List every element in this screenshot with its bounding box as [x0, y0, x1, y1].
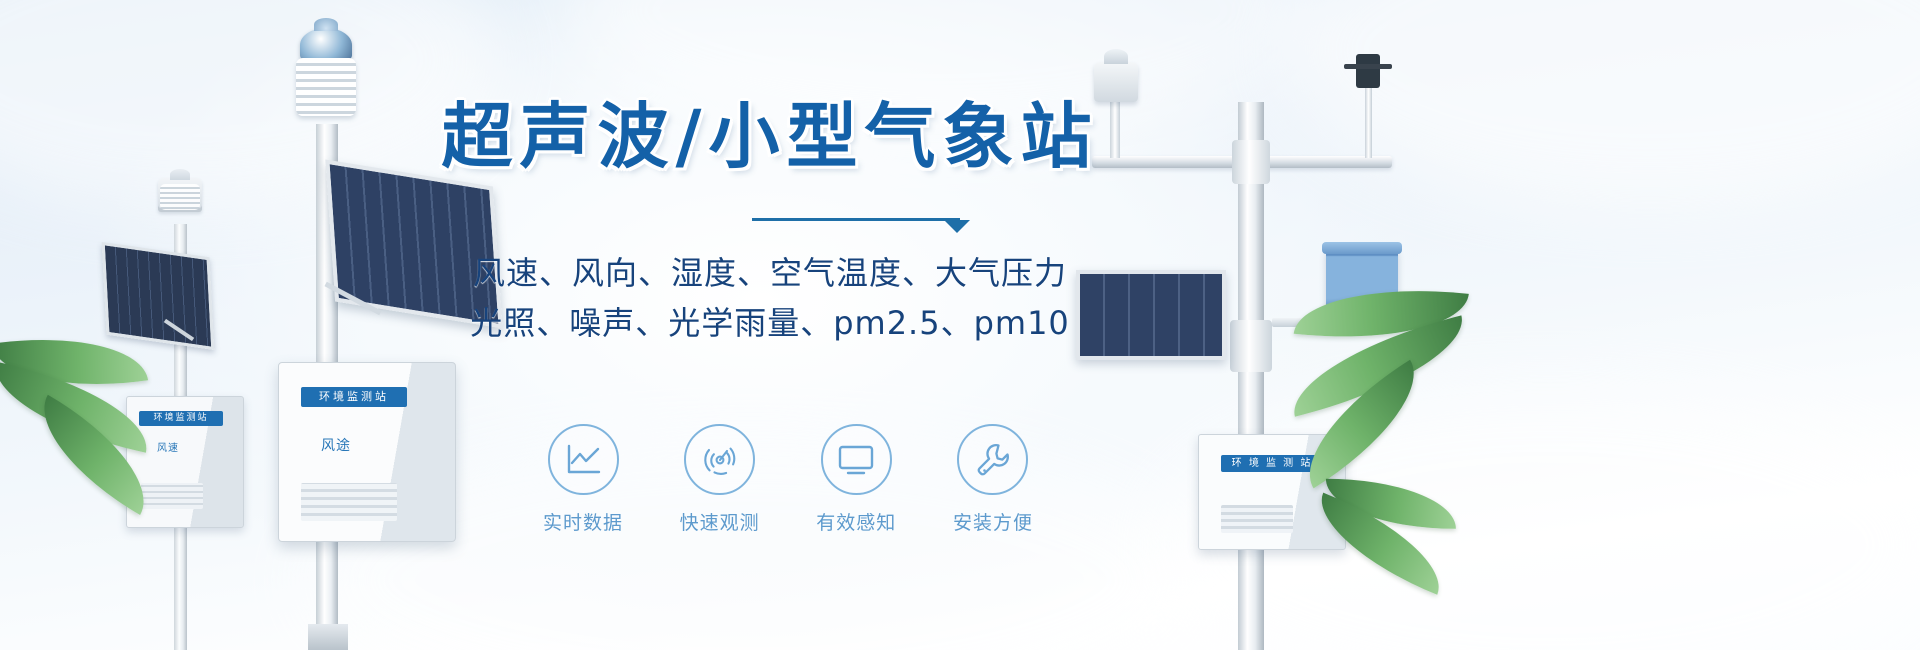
radiation-shield [296, 58, 356, 116]
enclosure-box: 环境监测站 风途 [278, 362, 456, 542]
sensor-stem [1365, 88, 1372, 158]
divider-line [752, 218, 960, 221]
feature-item-effective-sensing[interactable]: 有效感知 [801, 424, 911, 535]
line-chart-icon [548, 424, 619, 495]
radiation-shield [160, 184, 200, 210]
feature-item-easy-installation[interactable]: 安装方便 [938, 424, 1048, 535]
mast-pole [1238, 102, 1264, 650]
mast-base [308, 624, 348, 650]
subtitle-line-2: 光照、噪声、光学雨量、pm2.5、pm10 [440, 298, 1100, 348]
sensor-stem [1110, 100, 1120, 158]
enclosure-box: 环境监测站 风速 [126, 396, 244, 528]
enclosure-label: 环境监测站 [301, 387, 407, 407]
wrench-icon [957, 424, 1028, 495]
feature-label: 实时数据 [528, 508, 638, 535]
ultrasonic-sensor-icon [1094, 62, 1138, 102]
subtitle-block: 风速、风向、湿度、空气温度、大气压力 光照、噪声、光学雨量、pm2.5、pm10 [440, 248, 1100, 348]
feature-list: 实时数据 快速观测 [528, 424, 1048, 535]
title-divider [440, 218, 1100, 238]
vent-grille [141, 483, 203, 509]
wind-vane-icon [1356, 54, 1380, 88]
vent-grille [1221, 505, 1293, 533]
radar-signal-icon [684, 424, 755, 495]
feature-item-realtime-data[interactable]: 实时数据 [528, 424, 638, 535]
feature-label: 安装方便 [938, 508, 1048, 535]
mast-collar [1230, 320, 1272, 372]
enclosure-label: 环 境 监 测 站 [1221, 455, 1323, 472]
triangle-down-icon [944, 220, 970, 233]
brand-logo: 风速 [157, 439, 179, 454]
page-title: 超声波/小型气象站 [440, 96, 1100, 178]
mast-collar [1232, 140, 1270, 184]
banner-copy: 超声波/小型气象站 风速、风向、湿度、空气温度、大气压力 光照、噪声、光学雨量、… [440, 96, 1100, 348]
monitor-icon [821, 424, 892, 495]
solar-panel [102, 242, 215, 350]
feature-label: 有效感知 [801, 508, 911, 535]
dome-sensor-icon [300, 28, 352, 62]
banner-stage: 环境监测站 风速 环境监测站 风途 环 境 监 测 站 [0, 0, 1920, 650]
enclosure-label: 环境监测站 [139, 411, 223, 426]
feature-item-fast-observation[interactable]: 快速观测 [665, 424, 775, 535]
vent-grille [301, 483, 397, 521]
feature-label: 快速观测 [665, 508, 775, 535]
subtitle-line-1: 风速、风向、湿度、空气温度、大气压力 [440, 248, 1100, 298]
brand-logo: 风途 [321, 435, 351, 455]
